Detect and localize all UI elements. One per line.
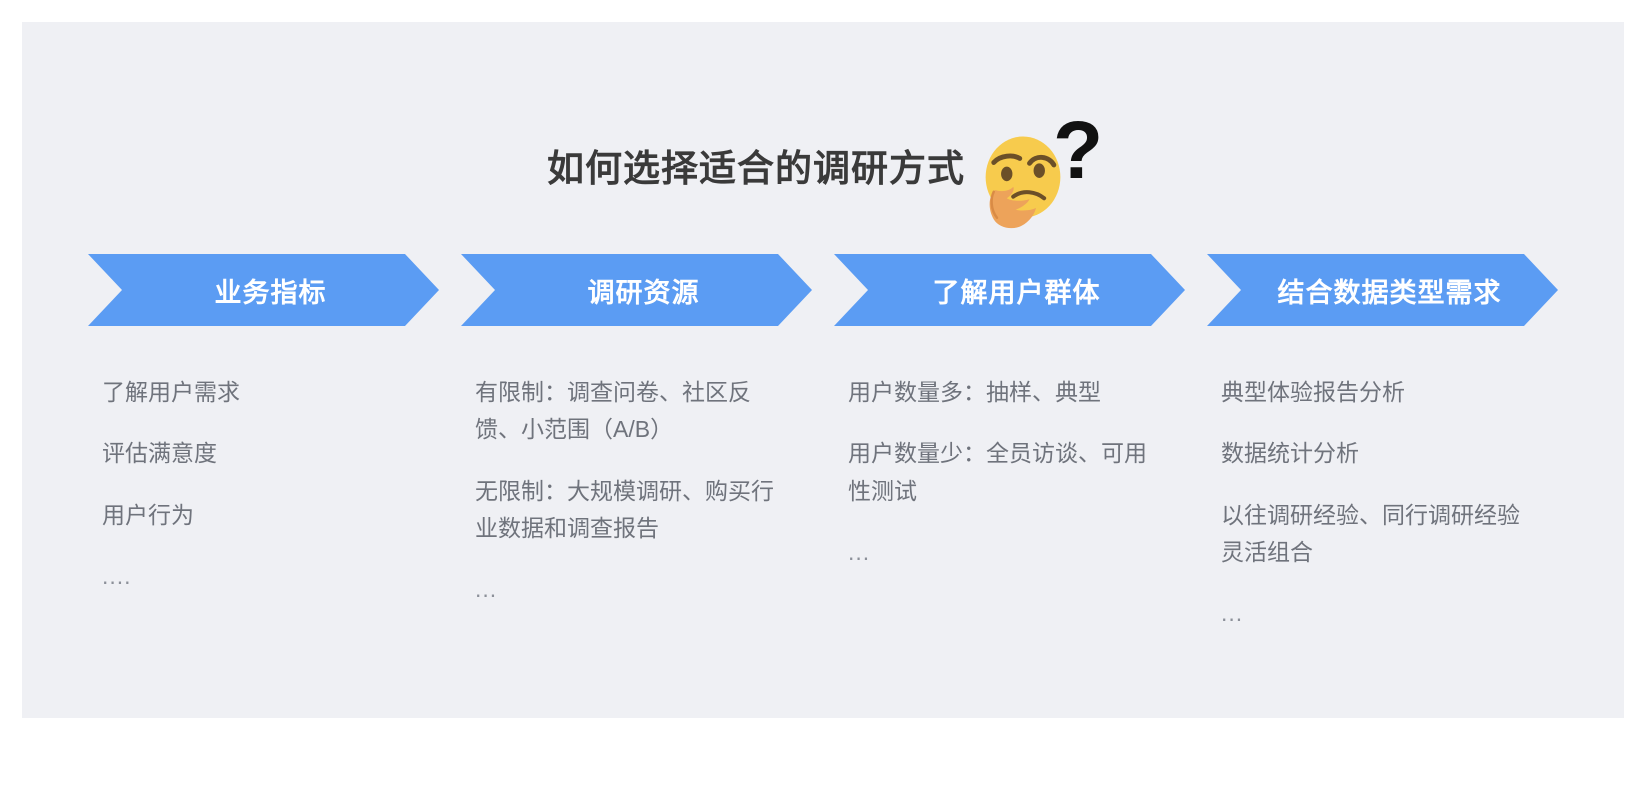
column-research-resources: 有限制：调查问卷、社区反馈、小范围（A/B） 无限制：大规模调研、购买行业数据和… (461, 374, 812, 694)
list-item: 无限制：大规模调研、购买行业数据和调查报告 (475, 473, 793, 548)
column-data-type-requirements: 典型体验报告分析 数据统计分析 以往调研经验、同行调研经验灵活组合 ... (1207, 374, 1558, 694)
banner-label: 业务指标 (201, 271, 327, 310)
banner-data-type-requirements[interactable]: 结合数据类型需求 (1207, 254, 1558, 326)
list-item: 数据统计分析 (1221, 435, 1539, 472)
title-emoji-group: ? (971, 112, 1099, 224)
page-title: 如何选择适合的调研方式 (547, 150, 965, 187)
columns-row: 了解用户需求 评估满意度 用户行为 .... 有限制：调查问卷、社区反馈、小范围… (88, 374, 1558, 694)
question-mark-glyph: ? (1053, 110, 1103, 192)
title-row: 如何选择适合的调研方式 ? (22, 108, 1624, 228)
list-item: 用户数量少：全员访谈、可用性测试 (848, 435, 1166, 510)
column-understand-user-group: 用户数量多：抽样、典型 用户数量少：全员访谈、可用性测试 ... (834, 374, 1185, 694)
slide-canvas: 如何选择适合的调研方式 ? 业 (22, 22, 1624, 718)
list-item: 评估满意度 (102, 435, 420, 472)
list-item: 用户行为 (102, 497, 420, 534)
banner-business-metrics[interactable]: 业务指标 (88, 254, 439, 326)
banner-label: 了解用户群体 (919, 271, 1101, 310)
banner-row: 业务指标 调研资源 了解用户群体 结合数据类型需求 (88, 254, 1558, 326)
column-business-metrics: 了解用户需求 评估满意度 用户行为 .... (88, 374, 439, 694)
list-item: 典型体验报告分析 (1221, 374, 1539, 411)
list-item-ellipsis: .... (102, 558, 420, 595)
list-item: 用户数量多：抽样、典型 (848, 374, 1166, 411)
banner-understand-user-group[interactable]: 了解用户群体 (834, 254, 1185, 326)
list-item: 有限制：调查问卷、社区反馈、小范围（A/B） (475, 374, 793, 449)
list-item-ellipsis: ... (1221, 595, 1539, 632)
banner-label: 调研资源 (574, 271, 700, 310)
banner-label: 结合数据类型需求 (1264, 271, 1502, 310)
list-item-ellipsis: ... (848, 534, 1166, 571)
list-item: 以往调研经验、同行调研经验灵活组合 (1221, 497, 1539, 572)
list-item-ellipsis: ... (475, 571, 793, 608)
banner-research-resources[interactable]: 调研资源 (461, 254, 812, 326)
list-item: 了解用户需求 (102, 374, 420, 411)
